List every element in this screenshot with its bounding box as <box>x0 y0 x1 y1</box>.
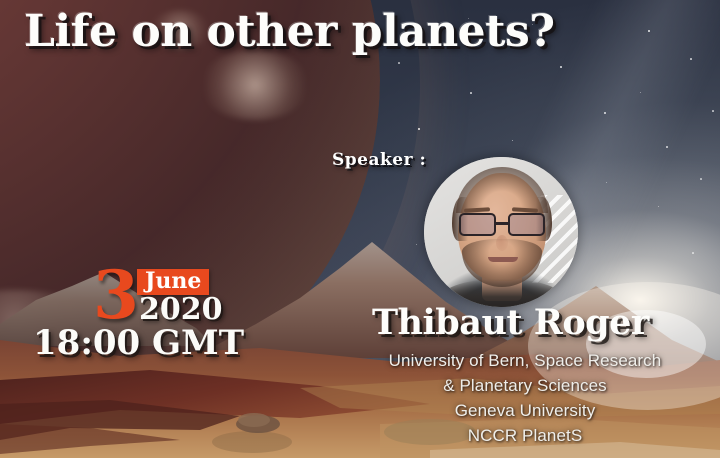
affiliation-line-4: NCCR PlanetS <box>350 423 700 448</box>
speaker-name: Thibaut Roger <box>372 303 649 343</box>
speaker-label: Speaker : <box>332 150 426 170</box>
page-title: Life on other planets? <box>24 6 555 58</box>
affiliation-line-2: & Planetary Sciences <box>350 373 700 398</box>
event-year: 2020 <box>139 294 223 326</box>
affiliation-line-3: Geneva University <box>350 398 700 423</box>
speaker-avatar <box>424 157 578 307</box>
webinar-poster: Life on other planets? Speaker : Thibaut… <box>0 0 720 458</box>
affiliation-line-1: University of Bern, Space Research <box>350 348 700 373</box>
glasses-icon <box>458 213 546 237</box>
event-time: 18:00 GMT <box>33 325 244 361</box>
event-day: 3 <box>93 262 139 328</box>
avatar-mouth <box>488 257 518 262</box>
speaker-affiliations: University of Bern, Space Research & Pla… <box>350 348 700 448</box>
